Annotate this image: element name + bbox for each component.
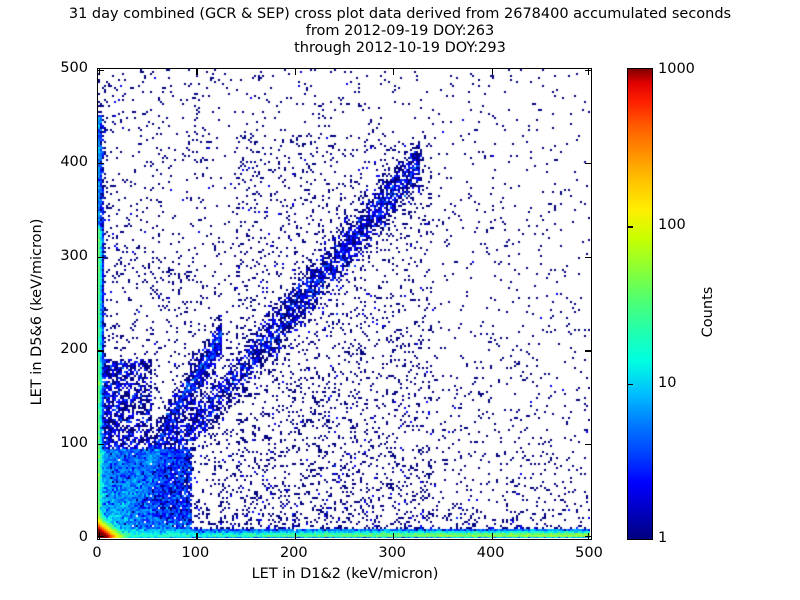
- x-tick-label: 0: [92, 545, 101, 561]
- scatter-points-layer: [98, 69, 590, 538]
- x-tick-bottom: [196, 533, 197, 539]
- x-tick-bottom: [492, 533, 493, 539]
- colorbar-label: Counts: [700, 247, 716, 377]
- x-tick-top: [492, 69, 493, 75]
- y-tick-left: [98, 163, 104, 164]
- x-tick-bottom: [295, 533, 296, 539]
- y-tick-right: [585, 350, 591, 351]
- scatter-plot-area: [97, 68, 592, 540]
- x-tick-top: [295, 69, 296, 75]
- x-tick-top: [393, 69, 394, 75]
- y-tick-left: [98, 536, 104, 537]
- title-line-1: 31 day combined (GCR & SEP) cross plot d…: [0, 6, 800, 23]
- x-tick-label: 500: [575, 545, 603, 561]
- colorbar-tick-label: 10: [658, 375, 676, 391]
- y-tick-left: [98, 257, 104, 258]
- y-tick-label: 0: [0, 529, 88, 545]
- y-tick-right: [585, 70, 591, 71]
- y-tick-right: [585, 163, 591, 164]
- x-tick-label: 200: [280, 545, 308, 561]
- y-tick-left: [98, 444, 104, 445]
- y-tick-label: 500: [0, 60, 88, 76]
- colorbar: [627, 68, 653, 540]
- colorbar-tick: [628, 384, 633, 385]
- x-tick-label: 400: [477, 545, 505, 561]
- colorbar-tick-label: 1: [658, 530, 667, 546]
- y-tick-right: [585, 536, 591, 537]
- x-tick-bottom: [393, 533, 394, 539]
- y-tick-right: [585, 257, 591, 258]
- chart-page: 31 day combined (GCR & SEP) cross plot d…: [0, 0, 800, 600]
- x-tick-top: [196, 69, 197, 75]
- colorbar-tick-label: 1000: [658, 61, 695, 77]
- colorbar-tick-label: 100: [658, 217, 686, 233]
- y-tick-left: [98, 350, 104, 351]
- title-line-2: from 2012-09-19 DOY:263: [0, 23, 800, 40]
- page-title: 31 day combined (GCR & SEP) cross plot d…: [0, 6, 800, 57]
- y-tick-left: [98, 70, 104, 71]
- x-tick-label: 100: [182, 545, 210, 561]
- x-tick-label: 300: [378, 545, 406, 561]
- title-line-3: through 2012-10-19 DOY:293: [0, 40, 800, 57]
- x-axis-label: LET in D1&2 (keV/micron): [0, 566, 690, 582]
- y-axis-label: LET in D5&6 (keV/micron): [29, 147, 45, 477]
- colorbar-tick: [628, 226, 633, 227]
- y-tick-right: [585, 444, 591, 445]
